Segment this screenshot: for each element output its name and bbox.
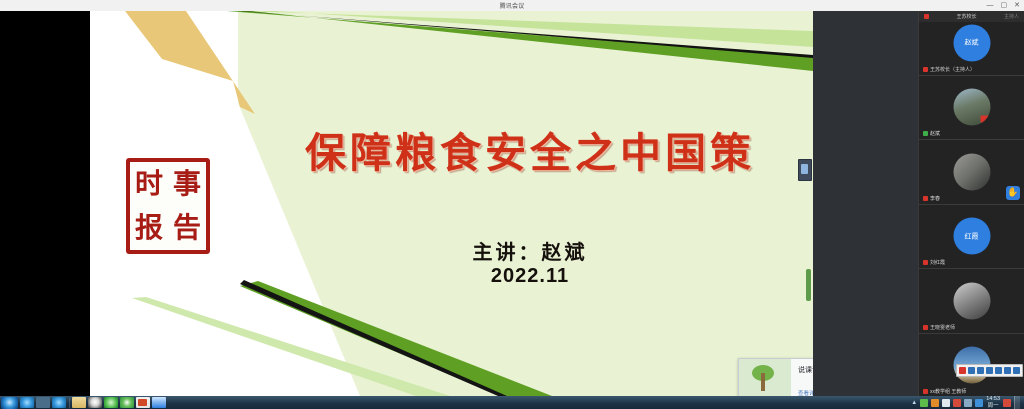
seal-char-4: 告 [168,206,206,250]
tile-name-row: 王苏校长（主持人） [923,66,975,73]
avatar-initials: 赵斌 [965,38,979,48]
slide-presenter: 主讲：赵斌 [250,236,810,265]
avatar-initials: 红霞 [965,231,979,241]
toast-file-name: 说课课件一等奖ppt [798,365,813,375]
chat-icon[interactable] [1004,367,1011,374]
tray-antivirus-icon[interactable] [920,399,928,407]
leave-meeting-icon[interactable] [959,367,966,374]
show-desktop-button[interactable] [1014,396,1020,409]
participant-name: xx教学组 王教师 [930,388,966,395]
tile-host-bar: 王苏校长 主持人 [919,11,1024,22]
window-controls: — ▢ ✕ [987,0,1021,11]
tile-name-row: xx教学组 王教师 [923,388,966,395]
tray-notification-icon[interactable] [1003,399,1011,407]
participant-tile[interactable]: 赵斌 [919,76,1024,141]
floating-meeting-toolbar[interactable] [956,364,1023,377]
tile-name-row: 王晓雯老师 [923,324,955,331]
participant-tile[interactable]: 王晓雯老师 [919,269,1024,334]
tile-name-row: 李春 [923,195,940,202]
tile-name-row: 刘红霞 [923,259,945,266]
participant-tile[interactable]: 王苏校长 主持人 赵斌 王苏校长（主持人） [919,11,1024,76]
stage-letterbox-left [0,11,90,396]
presentation-slide[interactable]: 时 事 报 告 保障粮食安全之中国策 主讲：赵斌 2022.11 [90,11,813,396]
chrome-browser-icon[interactable] [120,397,134,408]
edge-browser-icon[interactable] [104,397,118,408]
tray-volume-icon[interactable] [964,399,972,407]
tray-qq-icon[interactable] [953,399,961,407]
avatar: 赵斌 [953,24,990,61]
participant-name: 王晓雯老师 [930,324,955,331]
tile-host-role: 主持人 [1004,13,1019,20]
avatar-overlay-badge [980,116,989,123]
more-options-icon[interactable] [1013,367,1020,374]
file-transfer-toast[interactable]: 说课课件一等奖ppt 查看详情 » 3.92MB ✕ [738,358,813,396]
folder-icon[interactable] [72,397,86,408]
mic-muted-icon [923,260,928,265]
annotation-tool-handle[interactable] [798,159,812,181]
tile-name-row: 赵斌 [923,130,940,137]
raise-hand-reaction-icon[interactable]: ✋ [1006,186,1020,200]
slide-date: 2022.11 [250,265,810,288]
participant-name: 赵斌 [930,130,940,137]
avatar [953,282,990,319]
mic-muted-icon [923,196,928,201]
participant-tile[interactable]: 红霞 刘红霞 [919,205,1024,270]
share-screen-icon[interactable] [986,367,993,374]
window-title: 腾讯会议 [500,1,525,10]
toast-body: 说课课件一等奖ppt 查看详情 » 3.92MB ✕ [791,359,813,396]
tray-updates-icon[interactable] [931,399,939,407]
avatar: 红霞 [953,218,990,255]
window-titlebar: 腾讯会议 — ▢ ✕ [0,0,1024,11]
participant-rail[interactable]: 王苏校长 主持人 赵斌 王苏校长（主持人） 赵斌 [918,11,1024,396]
show-hidden-icons-icon[interactable]: ▲ [911,400,917,406]
participant-name: 李春 [930,195,940,202]
slide-scrollbar-thumb[interactable] [806,269,811,301]
tencent-meeting-icon[interactable] [152,397,166,408]
participant-name: 刘红霞 [930,259,945,266]
clock-time: 14:53 [986,396,1000,402]
mic-muted-icon [923,67,928,72]
tile-host-name: 王苏校长 [932,13,1001,20]
camera-icon[interactable] [977,367,984,374]
internet-explorer-icon[interactable] [52,397,66,408]
taskbar-separator [69,398,70,408]
desktop-screen: 腾讯会议 — ▢ ✕ 时 事 [0,0,1024,409]
file-explorer-icon[interactable] [36,397,50,408]
slide-title: 保障粮食安全之中国策 [250,119,810,179]
qq-icon[interactable] [88,397,102,408]
tree-trunk-shape [761,373,765,391]
toast-thumbnail [739,359,791,396]
start-button-icon[interactable] [1,397,18,409]
participant-name: 王苏校长（主持人） [930,66,975,73]
mic-muted-icon [924,14,929,19]
seal-char-1: 时 [130,162,168,206]
tray-input-method-icon[interactable] [975,399,983,407]
powerpoint-icon[interactable] [136,397,150,408]
tray-network-icon[interactable] [942,399,950,407]
stage-letterbox-right [813,11,918,396]
participant-tile[interactable]: 李春 ✋ [919,140,1024,205]
close-icon[interactable]: ✕ [1014,2,1020,9]
seal-char-3: 报 [130,206,168,250]
seal-stamp: 时 事 报 告 [126,158,210,254]
media-player-icon[interactable] [20,397,34,408]
windows-taskbar[interactable]: ▲ 14:53 周一 [0,396,1024,409]
mic-muted-icon [923,389,928,394]
microphone-icon[interactable] [968,367,975,374]
clock-day: 周一 [986,403,1000,409]
seal-char-2: 事 [168,162,206,206]
mic-muted-icon [923,325,928,330]
meeting-app-window: 腾讯会议 — ▢ ✕ 时 事 [0,0,1024,396]
participant-tile[interactable]: xx教学组 王教师 [919,334,1024,399]
avatar [953,153,990,190]
mic-active-icon [923,131,928,136]
avatar [953,89,990,126]
shared-screen-stage[interactable]: 时 事 报 告 保障粮食安全之中国策 主讲：赵斌 2022.11 [0,11,918,396]
participants-icon[interactable] [995,367,1002,374]
maximize-icon[interactable]: ▢ [1001,2,1008,9]
system-tray[interactable]: ▲ 14:53 周一 [911,396,1024,409]
clock[interactable]: 14:53 周一 [986,396,1000,409]
toast-detail-link[interactable]: 查看详情 » [798,389,813,396]
minimize-icon[interactable]: — [987,2,994,9]
